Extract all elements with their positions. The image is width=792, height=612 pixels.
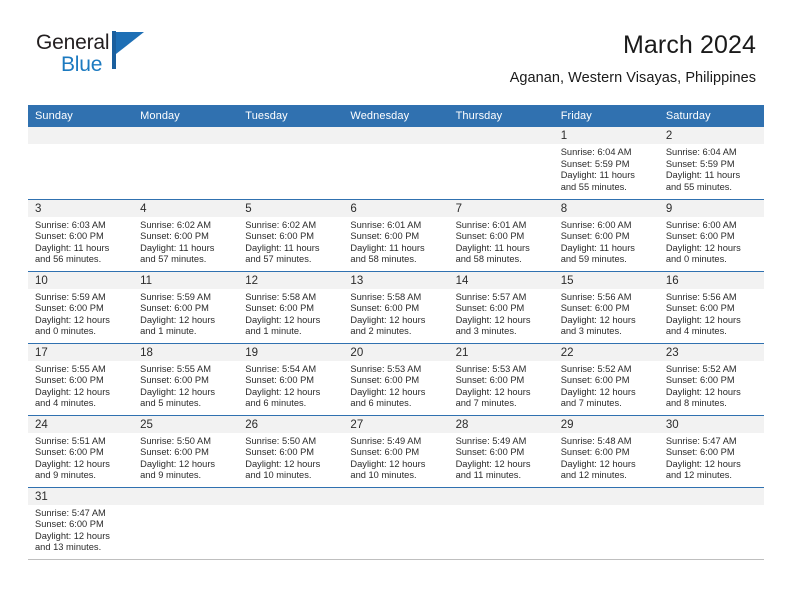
calendar-day-cell[interactable]: 19Sunrise: 5:54 AMSunset: 6:00 PMDayligh… <box>238 343 343 415</box>
daylight-duration-line2: and 3 minutes. <box>456 326 548 338</box>
sunset-time: Sunset: 6:00 PM <box>245 447 337 459</box>
calendar-day-cell[interactable]: 27Sunrise: 5:49 AMSunset: 6:00 PMDayligh… <box>343 415 448 487</box>
day-sun-info: Sunrise: 6:02 AMSunset: 6:00 PMDaylight:… <box>133 217 238 266</box>
day-sun-info <box>238 144 343 147</box>
calendar-day-cell[interactable]: 3Sunrise: 6:03 AMSunset: 6:00 PMDaylight… <box>28 199 133 271</box>
daylight-duration-line2: and 12 minutes. <box>561 470 653 482</box>
day-number: 10 <box>28 272 133 289</box>
daylight-duration-line2: and 5 minutes. <box>140 398 232 410</box>
daylight-duration-line1: Daylight: 12 hours <box>35 387 127 399</box>
day-sun-info: Sunrise: 5:53 AMSunset: 6:00 PMDaylight:… <box>449 361 554 410</box>
daylight-duration-line1: Daylight: 12 hours <box>35 315 127 327</box>
day-number: 28 <box>449 416 554 433</box>
sunset-time: Sunset: 5:59 PM <box>561 159 653 171</box>
day-sun-info: Sunrise: 5:47 AMSunset: 6:00 PMDaylight:… <box>659 433 764 482</box>
day-number: 14 <box>449 272 554 289</box>
sunset-time: Sunset: 6:00 PM <box>140 375 232 387</box>
daylight-duration-line1: Daylight: 12 hours <box>561 387 653 399</box>
sunrise-time: Sunrise: 5:55 AM <box>35 364 127 376</box>
sunrise-time: Sunrise: 5:47 AM <box>35 508 127 520</box>
day-number: 12 <box>238 272 343 289</box>
day-sun-info: Sunrise: 5:50 AMSunset: 6:00 PMDaylight:… <box>133 433 238 482</box>
sunset-time: Sunset: 6:00 PM <box>35 447 127 459</box>
daylight-duration-line1: Daylight: 11 hours <box>456 243 548 255</box>
day-number: 1 <box>554 127 659 144</box>
daylight-duration-line2: and 11 minutes. <box>456 470 548 482</box>
daylight-duration-line2: and 56 minutes. <box>35 254 127 266</box>
sunrise-time: Sunrise: 6:04 AM <box>666 147 758 159</box>
day-sun-info: Sunrise: 5:50 AMSunset: 6:00 PMDaylight:… <box>238 433 343 482</box>
sunrise-time: Sunrise: 6:02 AM <box>140 220 232 232</box>
calendar-day-cell[interactable]: 25Sunrise: 5:50 AMSunset: 6:00 PMDayligh… <box>133 415 238 487</box>
daylight-duration-line1: Daylight: 12 hours <box>666 315 758 327</box>
calendar-day-cell[interactable]: 6Sunrise: 6:01 AMSunset: 6:00 PMDaylight… <box>343 199 448 271</box>
day-number: 11 <box>133 272 238 289</box>
general-blue-logo[interactable]: General Blue <box>36 28 156 76</box>
daylight-duration-line1: Daylight: 11 hours <box>561 243 653 255</box>
calendar-day-cell[interactable]: 17Sunrise: 5:55 AMSunset: 6:00 PMDayligh… <box>28 343 133 415</box>
general-blue-flag-icon <box>112 31 144 69</box>
day-sun-info: Sunrise: 6:01 AMSunset: 6:00 PMDaylight:… <box>449 217 554 266</box>
sunrise-time: Sunrise: 6:01 AM <box>350 220 442 232</box>
calendar-day-cell-empty <box>659 487 764 559</box>
sunset-time: Sunset: 6:00 PM <box>456 447 548 459</box>
sunset-time: Sunset: 6:00 PM <box>561 231 653 243</box>
daylight-duration-line1: Daylight: 12 hours <box>350 459 442 471</box>
calendar-header-row: SundayMondayTuesdayWednesdayThursdayFrid… <box>28 105 764 127</box>
day-sun-info: Sunrise: 5:54 AMSunset: 6:00 PMDaylight:… <box>238 361 343 410</box>
day-sun-info: Sunrise: 6:00 AMSunset: 6:00 PMDaylight:… <box>659 217 764 266</box>
day-number: 21 <box>449 344 554 361</box>
daylight-duration-line1: Daylight: 12 hours <box>456 387 548 399</box>
sunrise-time: Sunrise: 5:49 AM <box>350 436 442 448</box>
calendar-day-cell[interactable]: 14Sunrise: 5:57 AMSunset: 6:00 PMDayligh… <box>449 271 554 343</box>
day-number <box>449 488 554 505</box>
daylight-duration-line2: and 2 minutes. <box>350 326 442 338</box>
calendar-day-cell-empty <box>343 487 448 559</box>
day-sun-info <box>449 505 554 508</box>
sunrise-time: Sunrise: 5:53 AM <box>456 364 548 376</box>
day-sun-info: Sunrise: 5:56 AMSunset: 6:00 PMDaylight:… <box>659 289 764 338</box>
calendar-day-cell[interactable]: 20Sunrise: 5:53 AMSunset: 6:00 PMDayligh… <box>343 343 448 415</box>
column-header-tuesday: Tuesday <box>238 105 343 127</box>
day-number: 23 <box>659 344 764 361</box>
sunset-time: Sunset: 6:00 PM <box>245 303 337 315</box>
daylight-duration-line2: and 57 minutes. <box>140 254 232 266</box>
calendar-day-cell-empty <box>238 127 343 199</box>
calendar-day-cell[interactable]: 10Sunrise: 5:59 AMSunset: 6:00 PMDayligh… <box>28 271 133 343</box>
sunrise-time: Sunrise: 5:50 AM <box>140 436 232 448</box>
daylight-duration-line1: Daylight: 12 hours <box>35 459 127 471</box>
day-number: 2 <box>659 127 764 144</box>
sunrise-time: Sunrise: 5:54 AM <box>245 364 337 376</box>
calendar-day-cell[interactable]: 1Sunrise: 6:04 AMSunset: 5:59 PMDaylight… <box>554 127 659 199</box>
day-number: 9 <box>659 200 764 217</box>
sunset-time: Sunset: 6:00 PM <box>350 231 442 243</box>
daylight-duration-line1: Daylight: 11 hours <box>350 243 442 255</box>
calendar-day-cell[interactable]: 29Sunrise: 5:48 AMSunset: 6:00 PMDayligh… <box>554 415 659 487</box>
daylight-duration-line2: and 8 minutes. <box>666 398 758 410</box>
day-sun-info: Sunrise: 5:58 AMSunset: 6:00 PMDaylight:… <box>343 289 448 338</box>
calendar-day-cell[interactable]: 7Sunrise: 6:01 AMSunset: 6:00 PMDaylight… <box>449 199 554 271</box>
sunset-time: Sunset: 6:00 PM <box>456 375 548 387</box>
daylight-duration-line2: and 6 minutes. <box>350 398 442 410</box>
day-number: 20 <box>343 344 448 361</box>
day-number: 24 <box>28 416 133 433</box>
calendar-week-row: 10Sunrise: 5:59 AMSunset: 6:00 PMDayligh… <box>28 271 764 343</box>
calendar-day-cell-empty <box>133 127 238 199</box>
calendar-day-cell[interactable]: 21Sunrise: 5:53 AMSunset: 6:00 PMDayligh… <box>449 343 554 415</box>
daylight-duration-line1: Daylight: 11 hours <box>245 243 337 255</box>
calendar-body: 1Sunrise: 6:04 AMSunset: 5:59 PMDaylight… <box>28 127 764 559</box>
calendar-day-cell-empty <box>133 487 238 559</box>
daylight-duration-line2: and 7 minutes. <box>456 398 548 410</box>
daylight-duration-line2: and 57 minutes. <box>245 254 337 266</box>
sunset-time: Sunset: 6:00 PM <box>35 375 127 387</box>
sunrise-time: Sunrise: 6:01 AM <box>456 220 548 232</box>
daylight-duration-line2: and 9 minutes. <box>35 470 127 482</box>
daylight-duration-line2: and 0 minutes. <box>666 254 758 266</box>
day-number: 15 <box>554 272 659 289</box>
column-header-saturday: Saturday <box>659 105 764 127</box>
sunset-time: Sunset: 6:00 PM <box>561 447 653 459</box>
daylight-duration-line1: Daylight: 12 hours <box>561 315 653 327</box>
day-sun-info: Sunrise: 6:01 AMSunset: 6:00 PMDaylight:… <box>343 217 448 266</box>
sunrise-time: Sunrise: 5:56 AM <box>666 292 758 304</box>
daylight-duration-line2: and 55 minutes. <box>561 182 653 194</box>
daylight-duration-line1: Daylight: 12 hours <box>561 459 653 471</box>
daylight-duration-line1: Daylight: 12 hours <box>140 315 232 327</box>
daylight-duration-line1: Daylight: 12 hours <box>140 387 232 399</box>
sunrise-time: Sunrise: 6:02 AM <box>245 220 337 232</box>
sunrise-time: Sunrise: 5:55 AM <box>140 364 232 376</box>
day-sun-info: Sunrise: 5:53 AMSunset: 6:00 PMDaylight:… <box>343 361 448 410</box>
day-sun-info: Sunrise: 5:48 AMSunset: 6:00 PMDaylight:… <box>554 433 659 482</box>
sunrise-time: Sunrise: 5:59 AM <box>35 292 127 304</box>
daylight-duration-line1: Daylight: 11 hours <box>140 243 232 255</box>
sunrise-time: Sunrise: 5:49 AM <box>456 436 548 448</box>
sunset-time: Sunset: 6:00 PM <box>666 303 758 315</box>
daylight-duration-line2: and 1 minute. <box>140 326 232 338</box>
day-sun-info <box>133 505 238 508</box>
day-number <box>449 127 554 144</box>
day-number: 30 <box>659 416 764 433</box>
calendar-day-cell[interactable]: 2Sunrise: 6:04 AMSunset: 5:59 PMDaylight… <box>659 127 764 199</box>
calendar-day-cell[interactable]: 8Sunrise: 6:00 AMSunset: 6:00 PMDaylight… <box>554 199 659 271</box>
day-number <box>238 488 343 505</box>
day-sun-info: Sunrise: 5:56 AMSunset: 6:00 PMDaylight:… <box>554 289 659 338</box>
sunrise-time: Sunrise: 5:53 AM <box>350 364 442 376</box>
sunrise-time: Sunrise: 5:50 AM <box>245 436 337 448</box>
day-sun-info <box>133 144 238 147</box>
calendar-week-row: 17Sunrise: 5:55 AMSunset: 6:00 PMDayligh… <box>28 343 764 415</box>
day-sun-info <box>343 505 448 508</box>
day-number <box>133 127 238 144</box>
day-number: 13 <box>343 272 448 289</box>
column-header-friday: Friday <box>554 105 659 127</box>
column-header-monday: Monday <box>133 105 238 127</box>
daylight-duration-line1: Daylight: 12 hours <box>245 315 337 327</box>
day-number: 5 <box>238 200 343 217</box>
daylight-duration-line2: and 59 minutes. <box>561 254 653 266</box>
day-sun-info <box>659 505 764 508</box>
sunrise-time: Sunrise: 5:59 AM <box>140 292 232 304</box>
day-number <box>343 488 448 505</box>
sunrise-time: Sunrise: 6:03 AM <box>35 220 127 232</box>
calendar-day-cell[interactable]: 23Sunrise: 5:52 AMSunset: 6:00 PMDayligh… <box>659 343 764 415</box>
day-number: 16 <box>659 272 764 289</box>
calendar-day-cell-empty <box>238 487 343 559</box>
sunrise-time: Sunrise: 6:00 AM <box>666 220 758 232</box>
sunset-time: Sunset: 6:00 PM <box>140 303 232 315</box>
sunrise-time: Sunrise: 5:58 AM <box>245 292 337 304</box>
daylight-duration-line1: Daylight: 12 hours <box>35 531 127 543</box>
calendar-day-cell[interactable]: 30Sunrise: 5:47 AMSunset: 6:00 PMDayligh… <box>659 415 764 487</box>
day-sun-info: Sunrise: 6:04 AMSunset: 5:59 PMDaylight:… <box>659 144 764 193</box>
day-number: 27 <box>343 416 448 433</box>
sunrise-time: Sunrise: 5:52 AM <box>561 364 653 376</box>
calendar-day-cell[interactable]: 11Sunrise: 5:59 AMSunset: 6:00 PMDayligh… <box>133 271 238 343</box>
sunrise-time: Sunrise: 5:56 AM <box>561 292 653 304</box>
calendar-day-cell[interactable]: 28Sunrise: 5:49 AMSunset: 6:00 PMDayligh… <box>449 415 554 487</box>
sunrise-time: Sunrise: 5:48 AM <box>561 436 653 448</box>
sunset-time: Sunset: 6:00 PM <box>140 231 232 243</box>
day-number <box>659 488 764 505</box>
day-sun-info: Sunrise: 5:47 AMSunset: 6:00 PMDaylight:… <box>28 505 133 554</box>
day-sun-info: Sunrise: 5:58 AMSunset: 6:00 PMDaylight:… <box>238 289 343 338</box>
page-header: General Blue March 2024 Aganan, Western … <box>0 0 792 100</box>
sunset-time: Sunset: 6:00 PM <box>666 231 758 243</box>
day-number: 8 <box>554 200 659 217</box>
day-number <box>133 488 238 505</box>
day-number: 25 <box>133 416 238 433</box>
daylight-duration-line2: and 10 minutes. <box>350 470 442 482</box>
sunset-time: Sunset: 6:00 PM <box>245 231 337 243</box>
day-number <box>28 127 133 144</box>
sunset-time: Sunset: 6:00 PM <box>456 303 548 315</box>
sunset-time: Sunset: 6:00 PM <box>140 447 232 459</box>
title-block: March 2024 Aganan, Western Visayas, Phil… <box>510 28 756 88</box>
calendar-day-cell[interactable]: 13Sunrise: 5:58 AMSunset: 6:00 PMDayligh… <box>343 271 448 343</box>
daylight-duration-line1: Daylight: 12 hours <box>666 459 758 471</box>
daylight-duration-line2: and 55 minutes. <box>666 182 758 194</box>
day-number: 3 <box>28 200 133 217</box>
sunset-time: Sunset: 6:00 PM <box>456 231 548 243</box>
sunrise-time: Sunrise: 5:58 AM <box>350 292 442 304</box>
day-sun-info: Sunrise: 5:52 AMSunset: 6:00 PMDaylight:… <box>659 361 764 410</box>
calendar-day-cell[interactable]: 16Sunrise: 5:56 AMSunset: 6:00 PMDayligh… <box>659 271 764 343</box>
daylight-duration-line1: Daylight: 12 hours <box>666 387 758 399</box>
daylight-duration-line1: Daylight: 11 hours <box>666 170 758 182</box>
day-sun-info: Sunrise: 5:52 AMSunset: 6:00 PMDaylight:… <box>554 361 659 410</box>
day-sun-info: Sunrise: 6:00 AMSunset: 6:00 PMDaylight:… <box>554 217 659 266</box>
day-number <box>343 127 448 144</box>
day-sun-info <box>554 505 659 508</box>
daylight-duration-line2: and 58 minutes. <box>456 254 548 266</box>
calendar-day-cell-empty <box>449 487 554 559</box>
day-number <box>554 488 659 505</box>
day-sun-info: Sunrise: 6:02 AMSunset: 6:00 PMDaylight:… <box>238 217 343 266</box>
sunset-time: Sunset: 5:59 PM <box>666 159 758 171</box>
sunrise-time: Sunrise: 5:52 AM <box>666 364 758 376</box>
daylight-duration-line2: and 4 minutes. <box>666 326 758 338</box>
day-number: 31 <box>28 488 133 505</box>
daylight-duration-line1: Daylight: 12 hours <box>245 459 337 471</box>
daylight-duration-line1: Daylight: 11 hours <box>561 170 653 182</box>
calendar-day-cell-empty <box>554 487 659 559</box>
sunset-time: Sunset: 6:00 PM <box>35 231 127 243</box>
day-sun-info <box>343 144 448 147</box>
sunset-time: Sunset: 6:00 PM <box>666 447 758 459</box>
calendar-day-cell[interactable]: 26Sunrise: 5:50 AMSunset: 6:00 PMDayligh… <box>238 415 343 487</box>
sunset-time: Sunset: 6:00 PM <box>561 375 653 387</box>
sunrise-time: Sunrise: 6:00 AM <box>561 220 653 232</box>
calendar-day-cell-empty <box>343 127 448 199</box>
day-number: 4 <box>133 200 238 217</box>
daylight-duration-line1: Daylight: 12 hours <box>350 315 442 327</box>
day-number: 17 <box>28 344 133 361</box>
sunset-time: Sunset: 6:00 PM <box>561 303 653 315</box>
daylight-duration-line1: Daylight: 12 hours <box>456 315 548 327</box>
calendar-week-row: 31Sunrise: 5:47 AMSunset: 6:00 PMDayligh… <box>28 487 764 559</box>
calendar-day-cell[interactable]: 5Sunrise: 6:02 AMSunset: 6:00 PMDaylight… <box>238 199 343 271</box>
column-header-thursday: Thursday <box>449 105 554 127</box>
daylight-duration-line2: and 3 minutes. <box>561 326 653 338</box>
day-sun-info: Sunrise: 5:49 AMSunset: 6:00 PMDaylight:… <box>343 433 448 482</box>
logo-triangle <box>116 32 144 54</box>
daylight-duration-line2: and 13 minutes. <box>35 542 127 554</box>
sunrise-time: Sunrise: 5:51 AM <box>35 436 127 448</box>
daylight-duration-line2: and 9 minutes. <box>140 470 232 482</box>
calendar-day-cell[interactable]: 12Sunrise: 5:58 AMSunset: 6:00 PMDayligh… <box>238 271 343 343</box>
daylight-duration-line1: Daylight: 12 hours <box>666 243 758 255</box>
calendar-day-cell[interactable]: 4Sunrise: 6:02 AMSunset: 6:00 PMDaylight… <box>133 199 238 271</box>
daylight-duration-line2: and 10 minutes. <box>245 470 337 482</box>
sunset-time: Sunset: 6:00 PM <box>350 447 442 459</box>
sunrise-time: Sunrise: 5:57 AM <box>456 292 548 304</box>
day-sun-info: Sunrise: 5:59 AMSunset: 6:00 PMDaylight:… <box>133 289 238 338</box>
calendar-day-cell-empty <box>449 127 554 199</box>
day-sun-info: Sunrise: 5:59 AMSunset: 6:00 PMDaylight:… <box>28 289 133 338</box>
day-sun-info: Sunrise: 6:03 AMSunset: 6:00 PMDaylight:… <box>28 217 133 266</box>
calendar-day-cell[interactable]: 18Sunrise: 5:55 AMSunset: 6:00 PMDayligh… <box>133 343 238 415</box>
daylight-duration-line1: Daylight: 12 hours <box>245 387 337 399</box>
sunset-time: Sunset: 6:00 PM <box>245 375 337 387</box>
day-number: 26 <box>238 416 343 433</box>
calendar-day-cell-empty <box>28 127 133 199</box>
day-number: 18 <box>133 344 238 361</box>
daylight-duration-line2: and 58 minutes. <box>350 254 442 266</box>
column-header-sunday: Sunday <box>28 105 133 127</box>
day-sun-info: Sunrise: 5:49 AMSunset: 6:00 PMDaylight:… <box>449 433 554 482</box>
day-number: 7 <box>449 200 554 217</box>
daylight-duration-line1: Daylight: 12 hours <box>350 387 442 399</box>
page-title: March 2024 <box>510 30 756 60</box>
day-sun-info <box>238 505 343 508</box>
daylight-duration-line2: and 4 minutes. <box>35 398 127 410</box>
daylight-duration-line1: Daylight: 11 hours <box>35 243 127 255</box>
day-number <box>238 127 343 144</box>
day-number: 6 <box>343 200 448 217</box>
sunrise-time: Sunrise: 5:47 AM <box>666 436 758 448</box>
day-sun-info: Sunrise: 5:55 AMSunset: 6:00 PMDaylight:… <box>133 361 238 410</box>
column-header-wednesday: Wednesday <box>343 105 448 127</box>
day-sun-info <box>28 144 133 147</box>
calendar-week-row: 24Sunrise: 5:51 AMSunset: 6:00 PMDayligh… <box>28 415 764 487</box>
calendar-day-cell[interactable]: 15Sunrise: 5:56 AMSunset: 6:00 PMDayligh… <box>554 271 659 343</box>
daylight-duration-line1: Daylight: 12 hours <box>456 459 548 471</box>
daylight-duration-line2: and 6 minutes. <box>245 398 337 410</box>
day-number: 22 <box>554 344 659 361</box>
sunset-time: Sunset: 6:00 PM <box>35 303 127 315</box>
calendar-week-row: 1Sunrise: 6:04 AMSunset: 5:59 PMDaylight… <box>28 127 764 199</box>
daylight-duration-line2: and 0 minutes. <box>35 326 127 338</box>
day-sun-info: Sunrise: 5:51 AMSunset: 6:00 PMDaylight:… <box>28 433 133 482</box>
day-sun-info: Sunrise: 5:55 AMSunset: 6:00 PMDaylight:… <box>28 361 133 410</box>
page-subtitle: Aganan, Western Visayas, Philippines <box>510 68 756 88</box>
sunset-time: Sunset: 6:00 PM <box>350 375 442 387</box>
day-sun-info <box>449 144 554 147</box>
sunrise-time: Sunrise: 6:04 AM <box>561 147 653 159</box>
day-number: 29 <box>554 416 659 433</box>
sunset-time: Sunset: 6:00 PM <box>35 519 127 531</box>
daylight-duration-line2: and 12 minutes. <box>666 470 758 482</box>
day-number: 19 <box>238 344 343 361</box>
calendar-day-cell[interactable]: 31Sunrise: 5:47 AMSunset: 6:00 PMDayligh… <box>28 487 133 559</box>
calendar-page: General Blue March 2024 Aganan, Western … <box>0 0 792 612</box>
day-sun-info: Sunrise: 6:04 AMSunset: 5:59 PMDaylight:… <box>554 144 659 193</box>
calendar-week-row: 3Sunrise: 6:03 AMSunset: 6:00 PMDaylight… <box>28 199 764 271</box>
daylight-duration-line1: Daylight: 12 hours <box>140 459 232 471</box>
calendar-day-cell[interactable]: 9Sunrise: 6:00 AMSunset: 6:00 PMDaylight… <box>659 199 764 271</box>
day-sun-info: Sunrise: 5:57 AMSunset: 6:00 PMDaylight:… <box>449 289 554 338</box>
sunset-time: Sunset: 6:00 PM <box>350 303 442 315</box>
calendar-table: SundayMondayTuesdayWednesdayThursdayFrid… <box>28 105 764 560</box>
daylight-duration-line2: and 1 minute. <box>245 326 337 338</box>
calendar-day-cell[interactable]: 24Sunrise: 5:51 AMSunset: 6:00 PMDayligh… <box>28 415 133 487</box>
calendar-day-cell[interactable]: 22Sunrise: 5:52 AMSunset: 6:00 PMDayligh… <box>554 343 659 415</box>
sunset-time: Sunset: 6:00 PM <box>666 375 758 387</box>
daylight-duration-line2: and 7 minutes. <box>561 398 653 410</box>
